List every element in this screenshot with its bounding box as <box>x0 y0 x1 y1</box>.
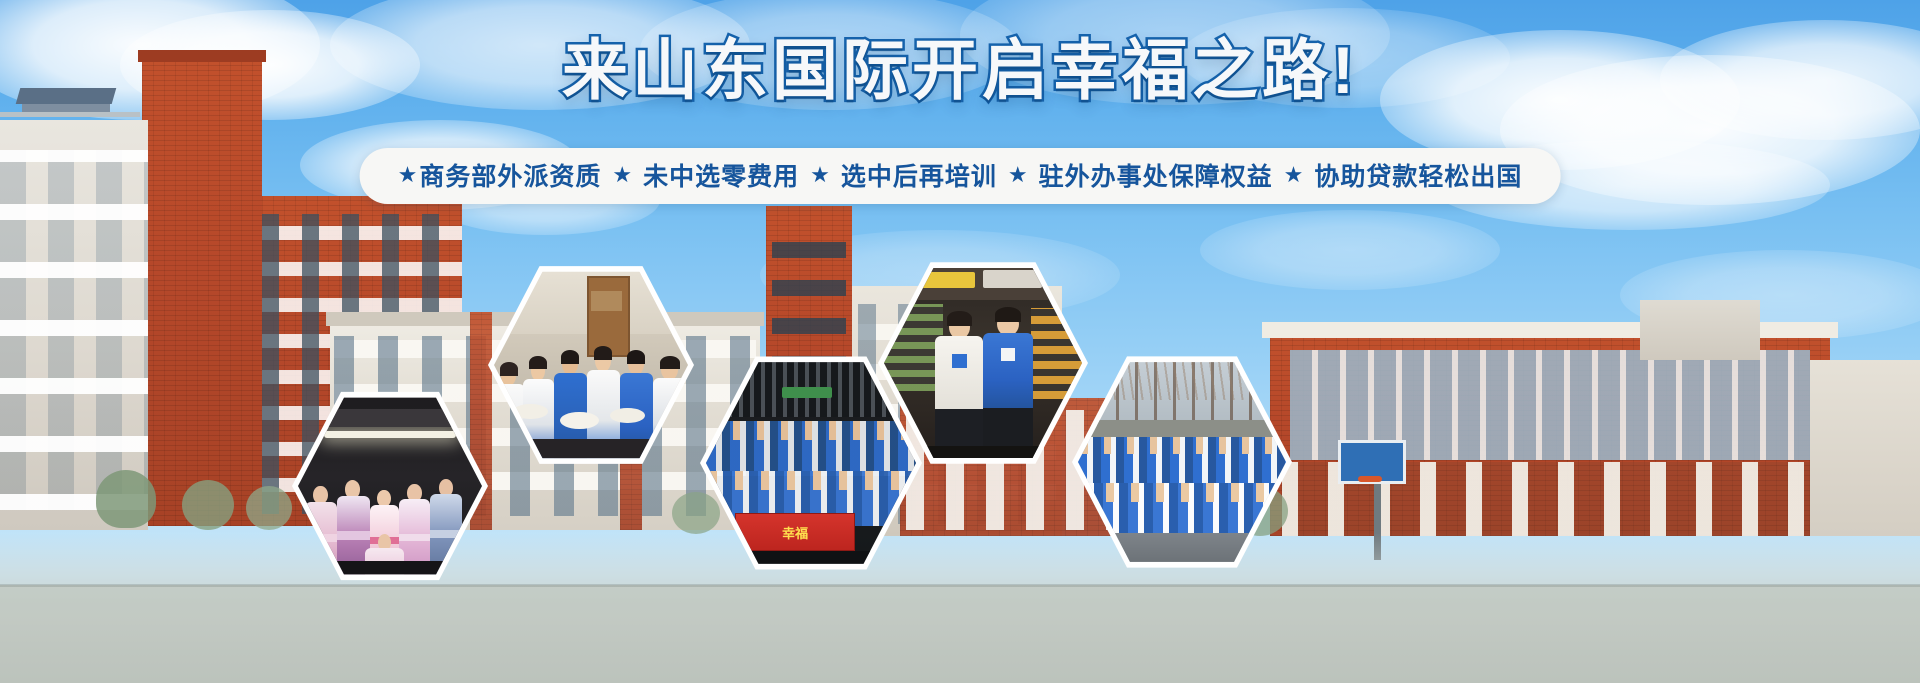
building-right-far-tower <box>1640 300 1760 360</box>
basketball-hoop-rim <box>1358 476 1382 482</box>
building-right-main <box>1270 330 1830 536</box>
building-left-white-block <box>0 120 148 530</box>
page-title: 来山东国际开启幸福之路! <box>0 36 1920 105</box>
group-photo-banner: 幸福 <box>735 513 855 551</box>
building-right-wing <box>1810 360 1920 536</box>
photo-supermarket-staff[interactable] <box>878 258 1088 468</box>
star-icon: ★ <box>997 164 1039 186</box>
feature-item-5: 协助贷款轻松出国 <box>1314 157 1522 193</box>
shrub <box>96 470 156 528</box>
building-left-white-floor-bands <box>0 150 148 510</box>
building-right-main-glass <box>1290 350 1810 460</box>
feature-item-1: 商务部外派资质 <box>419 157 601 193</box>
rooftop-railing <box>0 112 140 117</box>
shrub <box>182 480 234 530</box>
building-left-tower <box>142 56 262 526</box>
ground-edge-line <box>0 584 1920 587</box>
building-right-main-roofline <box>1262 322 1838 338</box>
feature-item-2: 未中选零费用 <box>643 157 799 193</box>
feature-item-3: 选中后再培训 <box>841 157 997 193</box>
photo-cooking-class-image <box>494 268 688 462</box>
star-icon: ★ <box>799 164 841 186</box>
cloud-icon <box>40 230 380 320</box>
promo-banner: 来山东国际开启幸福之路! ★ 商务部外派资质 ★ 未中选零费用 ★ 选中后再培训… <box>0 0 1920 683</box>
star-icon: ★ <box>601 164 643 186</box>
building-right-colonnade <box>1282 462 1822 536</box>
feature-item-4: 驻外办事处保障权益 <box>1039 157 1273 193</box>
photo-kimono-group-image <box>298 394 482 578</box>
photo-cooking-class[interactable] <box>488 262 694 468</box>
cloud-icon <box>1620 250 1920 340</box>
cloud-icon <box>1200 210 1500 290</box>
photo-supermarket-staff-image <box>884 264 1082 462</box>
feature-pill-bar: ★ 商务部外派资质 ★ 未中选零费用 ★ 选中后再培训 ★ 驻外办事处保障权益 … <box>360 148 1561 204</box>
basketball-hoop-backboard <box>1338 440 1406 484</box>
star-icon: ★ <box>398 164 420 186</box>
star-icon: ★ <box>1273 164 1315 186</box>
building-left-white-block-windows <box>0 150 148 510</box>
shrub <box>672 492 720 534</box>
group-photo-banner-text: 幸福 <box>782 523 808 542</box>
shrub <box>246 486 292 530</box>
ground-haze <box>0 533 1920 683</box>
